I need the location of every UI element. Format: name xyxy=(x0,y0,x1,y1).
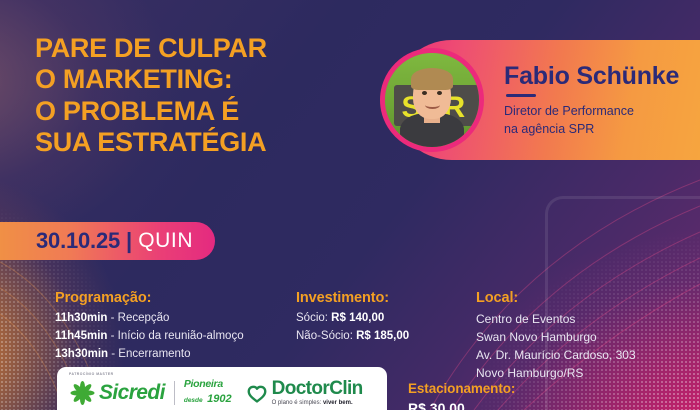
program-item-time: 13h30min xyxy=(55,348,108,360)
program-item-label: Início da reunião-almoço xyxy=(118,330,244,342)
event-date-value: 30.10.25 xyxy=(36,228,120,254)
speaker-role-line-2: na agência SPR xyxy=(504,121,679,138)
speaker-role-line-1: Diretor de Performance xyxy=(504,103,679,120)
doctorclin-logo: DoctorClin O plano é simples: viver bem. xyxy=(246,379,363,406)
parking-value: R$ 30,00 xyxy=(408,398,515,410)
sicredi-tagline: Pioneira desde 1902 xyxy=(184,379,232,407)
parking-heading: Estacionamento: xyxy=(408,381,515,396)
doctorclin-wordmark: DoctorClin xyxy=(272,379,363,399)
investment-item-value: R$ 140,00 xyxy=(331,312,384,324)
page-title: PARE DE CULPAR O MARKETING: O PROBLEMA É… xyxy=(35,33,365,158)
program-item: 13h30min - Encerramento xyxy=(55,346,244,364)
sponsor-panel: PATROCÍNIO MASTER Sicredi Pioneira desde… xyxy=(57,367,387,410)
date-separator: | xyxy=(126,228,132,254)
speaker-name-underline xyxy=(506,94,536,97)
venue-line: Novo Hamburgo/RS xyxy=(476,364,636,382)
speaker-card: SPR Fabio Schünke Diretor de Performance… xyxy=(392,40,700,160)
sicredi-tagline-year: 1902 xyxy=(207,393,231,405)
doctorclin-tagline: O plano é simples: viver bem. xyxy=(272,400,363,406)
program-item-dash: - xyxy=(108,348,118,360)
sicredi-tagline-desde: desde xyxy=(184,397,203,404)
speaker-avatar: SPR xyxy=(380,48,484,152)
investment-heading: Investimento: xyxy=(296,290,409,306)
sicredi-tagline-top: Pioneira xyxy=(184,379,232,390)
sicredi-wordmark: Sicredi xyxy=(99,381,165,405)
event-weekday: QUIN xyxy=(138,229,193,253)
program-item-label: Encerramento xyxy=(118,348,190,360)
sicredi-pinwheel-icon xyxy=(69,380,95,406)
sponsor-divider xyxy=(174,381,175,405)
event-poster: PARE DE CULPAR O MARKETING: O PROBLEMA É… xyxy=(0,0,700,410)
title-line-1: PARE DE CULPAR xyxy=(35,33,365,64)
venue-section: Local: Centro de Eventos Swan Novo Hambu… xyxy=(476,290,636,382)
investment-item-label: Sócio: xyxy=(296,312,331,324)
investment-item-label: Não-Sócio: xyxy=(296,330,356,342)
program-item: 11h30min - Recepção xyxy=(55,310,244,328)
doctorclin-tagline-plain: O plano é simples: xyxy=(272,400,323,406)
program-heading: Programação: xyxy=(55,290,244,306)
heart-icon xyxy=(246,382,268,404)
sponsor-kicker: PATROCÍNIO MASTER xyxy=(69,372,387,376)
venue-line: Av. Dr. Maurício Cardoso, 303 xyxy=(476,346,636,364)
event-date-badge: 30.10.25 | QUIN xyxy=(0,222,215,260)
investment-section: Investimento: Sócio: R$ 140,00 Não-Sócio… xyxy=(296,290,409,346)
title-line-4: SUA ESTRATÉGIA xyxy=(35,127,365,158)
program-item-dash: - xyxy=(107,312,117,324)
program-item-label: Recepção xyxy=(118,312,170,324)
program-section: Programação: 11h30min - Recepção 11h45mi… xyxy=(55,290,244,363)
doctorclin-tagline-bold: viver bem. xyxy=(323,400,353,406)
speaker-name: Fabio Schünke xyxy=(504,62,679,91)
venue-heading: Local: xyxy=(476,290,636,306)
investment-item: Sócio: R$ 140,00 xyxy=(296,310,409,328)
investment-item: Não-Sócio: R$ 185,00 xyxy=(296,328,409,346)
title-line-2: O MARKETING: xyxy=(35,64,365,95)
title-line-3: O PROBLEMA É xyxy=(35,96,365,127)
investment-item-value: R$ 185,00 xyxy=(356,330,409,342)
program-item-time: 11h45min xyxy=(55,330,107,342)
program-item-time: 11h30min xyxy=(55,312,107,324)
program-item-dash: - xyxy=(107,330,117,342)
program-item: 11h45min - Início da reunião-almoço xyxy=(55,328,244,346)
parking-section: Estacionamento: R$ 30,00 xyxy=(408,381,515,410)
venue-line: Centro de Eventos xyxy=(476,310,636,328)
venue-line: Swan Novo Hamburgo xyxy=(476,328,636,346)
